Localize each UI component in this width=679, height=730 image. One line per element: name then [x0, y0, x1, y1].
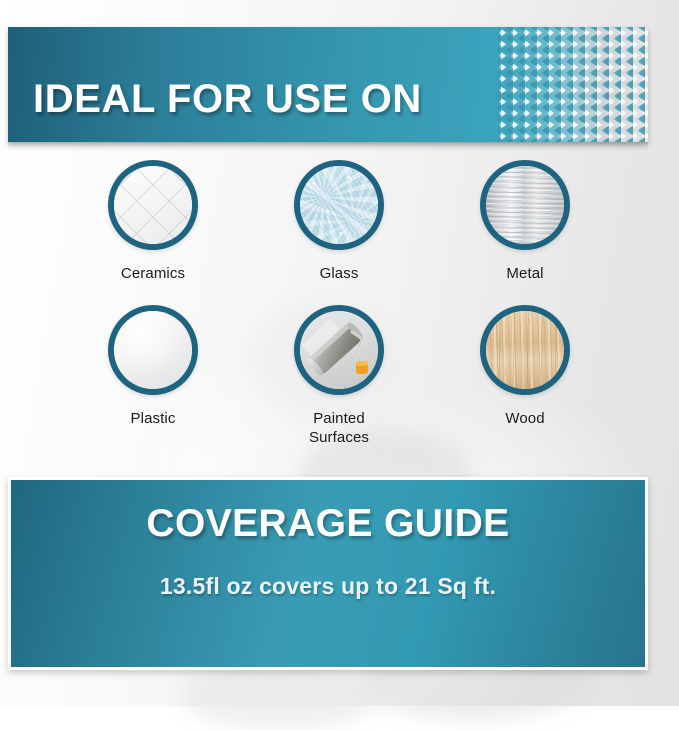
paint-roller-icon	[294, 305, 384, 395]
surface-item-painted-surfaces: Painted Surfaces	[246, 305, 432, 447]
surface-label-painted-surfaces: Painted Surfaces	[246, 409, 432, 447]
surface-label-ceramics: Ceramics	[60, 264, 246, 283]
surface-label-glass: Glass	[246, 264, 432, 283]
ceramics-circle-icon	[108, 160, 198, 250]
metal-circle-icon	[480, 160, 570, 250]
wood-circle-icon	[480, 305, 570, 395]
triangle-halftone-pattern-icon	[498, 27, 648, 142]
surface-item-wood: Wood	[432, 305, 618, 428]
plastic-circle-icon	[108, 305, 198, 395]
infographic-page: IDEAL FOR USE ON Ceramics Glass Metal	[0, 0, 679, 706]
marble-vein	[180, 660, 380, 730]
coverage-banner: COVERAGE GUIDE 13.5fl oz covers up to 21…	[8, 477, 648, 670]
header-shadow	[8, 142, 648, 151]
coverage-title: COVERAGE GUIDE	[11, 502, 645, 546]
surface-label-metal: Metal	[432, 264, 618, 283]
surface-item-glass: Glass	[246, 160, 432, 283]
page-title: IDEAL FOR USE ON	[33, 77, 422, 122]
surface-item-ceramics: Ceramics	[60, 160, 246, 283]
surface-label-line2: Surfaces	[309, 429, 369, 446]
surfaces-grid: Ceramics Glass Metal Plastic	[60, 160, 620, 470]
coverage-subtitle: 13.5fl oz covers up to 21 Sq ft.	[11, 573, 645, 600]
surface-label-line1: Painted	[313, 410, 365, 427]
surface-item-plastic: Plastic	[60, 305, 246, 428]
glass-circle-icon	[294, 160, 384, 250]
header-banner: IDEAL FOR USE ON	[8, 27, 648, 142]
surface-item-metal: Metal	[432, 160, 618, 283]
surface-label-wood: Wood	[432, 409, 618, 428]
surface-label-plastic: Plastic	[60, 409, 246, 428]
